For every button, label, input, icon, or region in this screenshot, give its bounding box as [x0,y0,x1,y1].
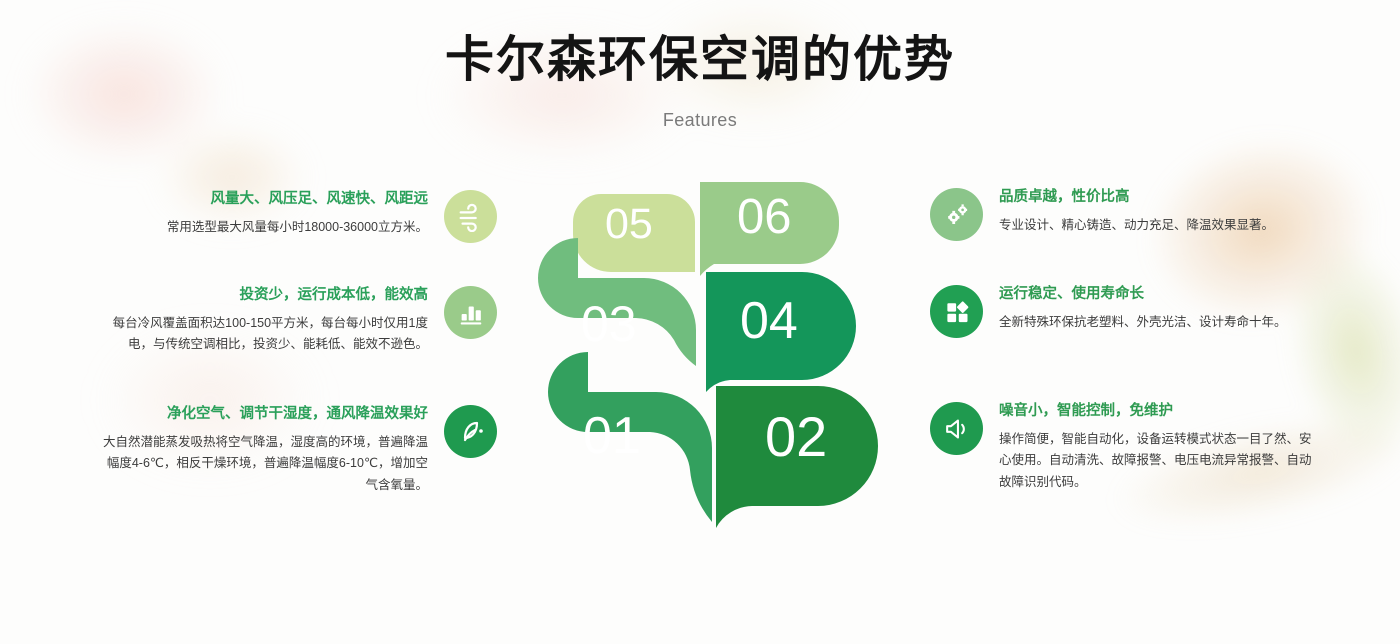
feature-text: 风量大、风压足、风速快、风距远 常用选型最大风量每小时18000-36000立方… [96,190,444,238]
leaf-number-04: 04 [740,291,798,351]
feature-body: 大自然潜能蒸发吸热将空气降温，湿度高的环境，普遍降温幅度4-6℃，相反干燥环境，… [96,432,428,497]
feature-heading: 噪音小，智能控制，免维护 [999,402,1313,422]
leaf-number-06: 06 [737,189,792,245]
feature-text: 投资少，运行成本低，能效高 每台冷风覆盖面积达100-150平方米，每台每小时仅… [96,286,444,356]
feature-text: 运行稳定、使用寿命长 全新特殊环保抗老塑料、外壳光洁、设计寿命十年。 [983,285,1313,333]
feature-heading: 投资少，运行成本低，能效高 [96,286,428,306]
feature-item-quality[interactable]: 品质卓越，性价比高 专业设计、精心铸造、动力充足、降温效果显著。 [930,188,1313,241]
leaf-number-05: 05 [605,200,653,249]
leaf-number-03: 03 [581,295,637,353]
feature-body: 常用选型最大风量每小时18000-36000立方米。 [96,217,428,239]
feature-item-noise[interactable]: 噪音小，智能控制，免维护 操作简便，智能自动化，设备运转模式状态一目了然、安心使… [930,402,1313,493]
wind-icon[interactable] [444,190,497,243]
slide-canvas: 卡尔森环保空调的优势 Features 05 06 03 04 01 02 风量… [0,0,1400,644]
feature-text: 噪音小，智能控制，免维护 操作简便，智能自动化，设备运转模式状态一目了然、安心使… [983,402,1313,493]
feature-body: 每台冷风覆盖面积达100-150平方米，每台每小时仅用1度电，与传统空调相比，投… [96,313,428,356]
leaf-number-01: 01 [583,406,641,466]
gears-icon[interactable] [930,188,983,241]
bar-chart-icon[interactable] [444,286,497,339]
feature-body: 全新特殊环保抗老塑料、外壳光洁、设计寿命十年。 [999,312,1313,334]
feature-heading: 运行稳定、使用寿命长 [999,285,1313,305]
feature-body: 专业设计、精心铸造、动力充足、降温效果显著。 [999,215,1313,237]
feature-text: 品质卓越，性价比高 专业设计、精心铸造、动力充足、降温效果显著。 [983,188,1313,236]
feature-heading: 品质卓越，性价比高 [999,188,1313,208]
feature-heading: 净化空气、调节干湿度，通风降温效果好 [96,405,428,425]
feature-item-stability[interactable]: 运行稳定、使用寿命长 全新特殊环保抗老塑料、外壳光洁、设计寿命十年。 [930,285,1313,338]
feature-text: 净化空气、调节干湿度，通风降温效果好 大自然潜能蒸发吸热将空气降温，湿度高的环境… [96,405,444,496]
feature-heading: 风量大、风压足、风速快、风距远 [96,190,428,210]
grid-squares-icon[interactable] [930,285,983,338]
feature-item-wind[interactable]: 风量大、风压足、风速快、风距远 常用选型最大风量每小时18000-36000立方… [96,190,497,243]
eco-leaf-icon[interactable] [444,405,497,458]
feature-item-air[interactable]: 净化空气、调节干湿度，通风降温效果好 大自然潜能蒸发吸热将空气降温，湿度高的环境… [96,405,497,496]
leaf-number-02: 02 [765,404,827,469]
feature-item-cost[interactable]: 投资少，运行成本低，能效高 每台冷风覆盖面积达100-150平方米，每台每小时仅… [96,286,497,356]
feature-body: 操作简便，智能自动化，设备运转模式状态一目了然、安心使用。自动清洗、故障报警、电… [999,429,1313,494]
speaker-icon[interactable] [930,402,983,455]
